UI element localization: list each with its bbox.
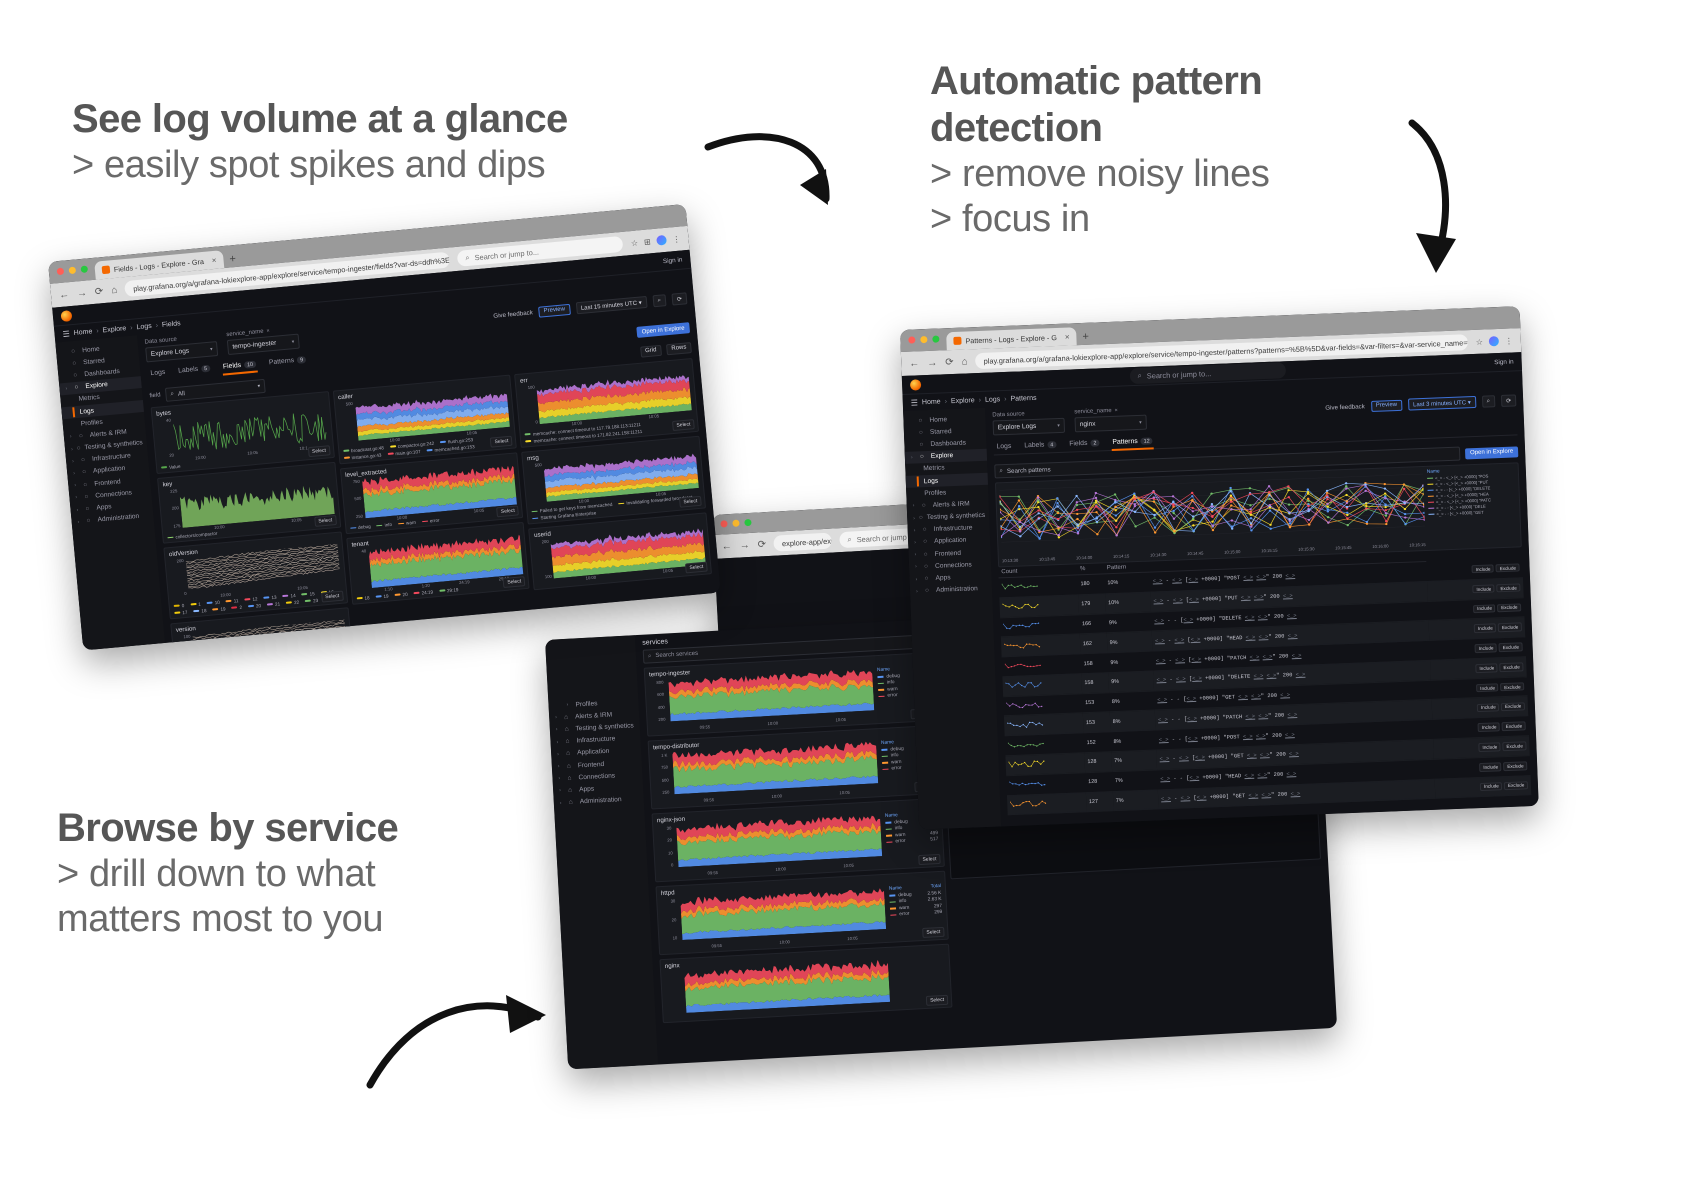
rows-view-button[interactable]: Rows [666, 342, 692, 355]
legend-item[interactable]: 14 [282, 592, 296, 598]
breadcrumb-fields[interactable]: Fields [162, 320, 181, 329]
chevron-right-icon: › [75, 494, 81, 500]
field-panel[interactable]: bytes 4020 10:0010:0510:1 ValueSelect [151, 391, 335, 473]
zoom-out-icon[interactable]: ⌕ [1482, 395, 1496, 408]
legend-swatch [174, 612, 180, 614]
exclude-button[interactable]: Exclude [1497, 603, 1521, 612]
y-tick: 500 [339, 401, 353, 407]
compass-icon: ○ [920, 453, 927, 460]
patterns-table[interactable]: Count%Pattern 18010%<_> - <_> [<_> +0000… [998, 547, 1531, 815]
y-tick: 200 [651, 717, 665, 723]
sidebar-item-label: Home [82, 345, 100, 354]
select-button[interactable]: Select [685, 561, 708, 573]
legend-label: debug [898, 892, 912, 898]
legend-swatch [1428, 489, 1434, 491]
x-tick: 10:16:00 [1372, 543, 1388, 549]
legend-label: flush.go:253 [448, 437, 473, 444]
include-button[interactable]: Include [1478, 723, 1500, 732]
menu-icon[interactable]: ⋮ [1505, 336, 1513, 345]
legend-total: 297 [934, 903, 942, 908]
legend-item[interactable]: 22 [286, 599, 300, 605]
tab-patterns[interactable]: Patterns9 [267, 353, 307, 371]
sidebar-item-label: Administration [97, 513, 139, 524]
select-button[interactable]: Select [497, 505, 520, 517]
legend-name-header: Name [881, 740, 894, 746]
legend-item[interactable]: error [422, 518, 440, 525]
search-icon: ⌕ [1137, 371, 1142, 381]
chevron-down-icon: ▾ [257, 383, 260, 389]
legend-swatch [174, 605, 180, 607]
legend-label: warn [899, 905, 910, 911]
legend-swatch [532, 510, 538, 512]
row-percent: 9% [1107, 651, 1153, 673]
chrome-toolbar[interactable]: ☆ ⋮ [1476, 335, 1514, 346]
x-tick: 10:14:00 [1076, 555, 1092, 561]
legend-swatch [244, 598, 250, 600]
legend-swatch [890, 908, 896, 910]
close-icon[interactable]: × [1065, 332, 1070, 341]
x-tick: 10:05 [291, 517, 302, 523]
row-count: 180 [1077, 574, 1105, 595]
forward-icon[interactable]: → [927, 357, 937, 368]
include-button[interactable]: Include [1480, 762, 1502, 771]
tab-patterns[interactable]: Patterns12 [1111, 434, 1154, 450]
preview-badge[interactable]: Preview [1371, 399, 1403, 411]
include-button[interactable]: Include [1475, 644, 1497, 653]
row-percent: 7% [1112, 790, 1158, 812]
legend-label: 1 [198, 601, 201, 606]
traffic-lights[interactable] [57, 265, 89, 275]
menu-icon[interactable]: ☰ [62, 329, 70, 339]
legend-label: 20 [256, 603, 262, 608]
sidebar-item-label: Frontend [934, 549, 961, 557]
tab-title: Patterns - Logs - Explore - G [965, 332, 1057, 345]
legend-label: 11 [233, 598, 238, 603]
y-tick: 250 [655, 789, 669, 795]
field-panel[interactable]: tenant 40 1:101:2024:1929:19 18192024:19… [346, 522, 530, 604]
grafana-logo-icon [910, 379, 921, 390]
legend-swatch [879, 695, 885, 697]
sidebar-item-label: Infrastructure [92, 453, 131, 463]
traffic-lights[interactable] [720, 519, 751, 528]
include-button[interactable]: Include [1479, 742, 1501, 751]
select-button[interactable]: Select [926, 995, 948, 1006]
legend-swatch [890, 914, 896, 916]
legend-label: 17 [182, 609, 188, 614]
legend-item[interactable]: 2 [231, 604, 242, 610]
grid-view-button[interactable]: Grid [640, 344, 662, 357]
new-tab-icon[interactable]: + [1082, 331, 1089, 343]
legend-item[interactable]: warn [398, 520, 416, 527]
service-name-filter[interactable]: service_name× tempo-ingester▾ [226, 326, 300, 355]
chevron-right-icon: › [77, 519, 83, 525]
gear-icon: ⌂ [569, 799, 576, 806]
back-icon[interactable]: ← [59, 289, 70, 301]
legend-item[interactable]: 15 [301, 591, 315, 597]
sidebar-item-label: Dashboards [84, 368, 120, 378]
select-button[interactable]: Select [672, 419, 695, 431]
legend-item[interactable]: 24:19 [413, 589, 433, 596]
service-legend[interactable] [893, 957, 945, 960]
exclude-button[interactable]: Exclude [1499, 643, 1523, 652]
chevron-down-icon: ▾ [1057, 422, 1060, 428]
include-button[interactable]: Include [1477, 703, 1499, 712]
arrow-to-services-window [360, 985, 560, 1095]
legend-label: info [895, 826, 903, 831]
chevron-right-icon: › [915, 564, 920, 570]
plug-icon: ○ [84, 493, 92, 501]
legend-swatch [882, 768, 888, 770]
heartbeat-icon: ○ [923, 526, 930, 533]
legend-item[interactable]: 18 [193, 608, 207, 614]
legend-label: 18 [364, 595, 370, 600]
x-tick: 10:00 [396, 514, 407, 520]
menu-icon[interactable]: ⋮ [672, 234, 681, 244]
breadcrumb-home[interactable]: Home [922, 398, 941, 406]
sidebar-item-label: Starred [83, 357, 105, 366]
x-tick: 10:00 [214, 524, 225, 530]
legend-swatch [350, 527, 356, 529]
legend-item[interactable]: debug [350, 524, 371, 531]
legend-label: main.go:107 [395, 449, 421, 456]
tab-label: Patterns [269, 357, 295, 366]
legend-swatch [1427, 483, 1433, 485]
x-tick: 09:55 [711, 943, 722, 949]
legend-item[interactable]: 20 [394, 591, 408, 597]
datasource-picker[interactable]: Data source Explore Logs▾ [144, 333, 218, 362]
close-icon[interactable]: × [266, 328, 270, 334]
select-button[interactable]: Select [314, 515, 337, 527]
tab-logs[interactable]: Logs [149, 366, 167, 381]
legend-item[interactable]: main.go:107 [387, 449, 421, 457]
legend-label: Value [169, 463, 181, 469]
refresh-icon[interactable]: ⟳ [1501, 394, 1516, 407]
globe-icon: ○ [83, 481, 91, 489]
legend-item[interactable]: 17 [174, 609, 188, 615]
field-panel[interactable]: key 225200175 10:0010:05 collectors/comp… [157, 461, 341, 543]
exclude-button[interactable]: Exclude [1502, 722, 1526, 731]
avatar[interactable] [656, 235, 667, 246]
signin-link[interactable]: Sign in [663, 256, 683, 265]
legend-swatch [248, 605, 254, 607]
sidebar-item-label: Explore [931, 452, 954, 460]
legend-swatch [267, 603, 273, 605]
exclude-button[interactable]: Exclude [1498, 623, 1522, 632]
sidebar-item-label: Metrics [78, 394, 100, 403]
grafana-favicon [102, 265, 111, 274]
open-in-explore-button[interactable]: Open in Explore [1465, 446, 1518, 459]
legend-swatch [886, 835, 892, 837]
legend-swatch [885, 822, 891, 824]
legend-swatch [344, 457, 350, 459]
y-tick: 100 [520, 384, 534, 390]
y-tick: 20 [658, 838, 672, 844]
field-panel[interactable]: oldVersion 2000 10:0010:05 0110111213141… [163, 532, 347, 619]
tab-labels[interactable]: Labels5 [177, 362, 212, 379]
home-icon[interactable]: ⌂ [111, 284, 118, 296]
search-icon: ⌕ [465, 253, 470, 263]
x-tick: 10:05 [297, 585, 308, 591]
exclude-button[interactable]: Exclude [1500, 682, 1524, 691]
zoom-out-icon[interactable]: ⌕ [652, 294, 666, 307]
url-text[interactable]: explore-app/explore?patterns=%5B%5D&var-… [774, 533, 832, 552]
back-icon[interactable]: ← [909, 358, 919, 369]
field-panel[interactable]: level_extracted 750500250 10:0010:05 deb… [340, 452, 524, 534]
x-tick: 10:00 [389, 437, 400, 443]
legend-label: 19 [383, 593, 389, 598]
service-legend[interactable]: NameTotaldebug2.56 Kinfo2.63 Kwarn297err… [889, 884, 943, 919]
sidebar-item-label: Connections [935, 561, 972, 569]
home-icon: ○ [918, 417, 925, 424]
legend-swatch [394, 594, 400, 596]
service-panel[interactable]: httpd 302010 09:5510:0010:05 NameTotalde… [655, 871, 948, 956]
legend-item[interactable]: 11 [226, 598, 239, 604]
chrome-toolbar[interactable]: ☆ ⊞ ⋮ [630, 234, 681, 248]
legend-item[interactable]: 12 [244, 596, 258, 602]
field-panel[interactable]: msg 500 10:0010:05 Failed to get keys fr… [521, 435, 706, 524]
select-button[interactable]: Select [490, 435, 513, 447]
tab-count-badge: 2 [1090, 439, 1099, 446]
panel-column: caller 500 10:0010:05 broadcast.go:48com… [332, 375, 535, 651]
give-feedback-link[interactable]: Give feedback [493, 309, 533, 320]
exclude-button[interactable]: Exclude [1500, 662, 1524, 671]
time-range-picker[interactable]: Last 15 minutes UTC ▾ [575, 296, 647, 314]
arrow-to-patterns-window [1390, 115, 1520, 305]
sidebar-item-label: Home [929, 416, 947, 424]
datasource-picker[interactable]: Data source Explore Logs▾ [992, 410, 1065, 436]
exclude-button[interactable]: Exclude [1497, 583, 1521, 592]
new-tab-icon[interactable]: + [229, 253, 236, 266]
sidebar-item-label: Apps [96, 503, 112, 511]
back-icon[interactable]: ← [721, 540, 732, 552]
row-percent: 8% [1109, 710, 1155, 732]
x-tick: 10:00 [195, 455, 206, 461]
sidebar-item-label: Infrastructure [934, 525, 973, 533]
exclude-button[interactable]: Exclude [1503, 761, 1527, 770]
legend-item[interactable]: 21 [267, 601, 281, 607]
close-icon[interactable]: × [211, 255, 216, 264]
include-button[interactable]: Include [1473, 604, 1495, 613]
star-icon[interactable]: ☆ [630, 238, 638, 248]
window-patterns[interactable]: Patterns - Logs - Explore - G × + ← → ⟳ … [900, 306, 1539, 829]
legend-item[interactable]: 10 [206, 599, 220, 605]
bell-icon: ○ [79, 432, 87, 440]
x-tick: 10:15:45 [1335, 545, 1351, 551]
service-panel[interactable]: nginx Select [659, 944, 952, 1024]
callout-pattern-detection: Automatic pattern detection > remove noi… [930, 58, 1360, 242]
include-button[interactable]: Include [1476, 663, 1498, 672]
x-tick: 10:00 [585, 575, 596, 581]
forward-icon[interactable]: → [76, 287, 87, 299]
exclude-button[interactable]: Exclude [1504, 781, 1528, 790]
open-in-explore-button[interactable]: Open in Explore [636, 322, 690, 338]
service-panel[interactable]: tempo-ingester 800600400200 09:5510:0010… [644, 652, 937, 737]
legend-swatch [286, 601, 292, 603]
legend-item[interactable]: 20 [248, 603, 262, 609]
row-actions[interactable]: IncludeExclude [1435, 775, 1532, 798]
legend-swatch [533, 517, 539, 519]
traffic-lights[interactable] [908, 335, 939, 343]
row-count: 162 [1080, 633, 1108, 654]
include-button[interactable]: Include [1473, 584, 1495, 593]
y-tick: 10 [663, 935, 677, 941]
menu-icon[interactable]: ☰ [911, 398, 919, 407]
avatar[interactable] [1489, 336, 1499, 346]
tab-logs[interactable]: Logs [995, 440, 1012, 455]
services-list[interactable]: tempo-ingester 800600400200 09:5510:0010… [644, 652, 953, 1023]
legend-label: 22 [294, 599, 300, 604]
legend-label: 24:19 [421, 589, 433, 595]
legend-item[interactable]: 0 [173, 603, 184, 609]
tab-labels[interactable]: Labels4 [1023, 438, 1058, 453]
give-feedback-link[interactable]: Give feedback [1325, 403, 1365, 412]
exclude-button[interactable]: Exclude [1496, 563, 1520, 572]
legend-item[interactable]: 13 [263, 594, 277, 600]
preview-badge[interactable]: Preview [538, 303, 570, 317]
legend-item[interactable]: 29:19 [439, 587, 459, 594]
breadcrumb-patterns[interactable]: Patterns [1010, 394, 1036, 402]
select-button[interactable]: Select [679, 496, 702, 508]
flask-icon: ○ [919, 514, 923, 521]
legend-item[interactable]: 1 [190, 601, 201, 607]
legend-swatch [356, 597, 362, 599]
x-tick: 10:16:15 [1409, 542, 1425, 548]
chevron-right-icon: › [915, 552, 920, 558]
select-button[interactable]: Select [308, 445, 331, 457]
legend-swatch [1428, 501, 1434, 503]
close-icon[interactable]: × [1115, 408, 1118, 414]
tab-fields[interactable]: Fields2 [1068, 436, 1101, 451]
search-icon: ⌕ [170, 390, 174, 398]
sidebar-item-administration[interactable]: ›○Administration [910, 582, 992, 597]
exclude-button[interactable]: Exclude [1503, 741, 1527, 750]
extensions-icon[interactable]: ⊞ [644, 237, 651, 247]
row-count: 158 [1080, 653, 1108, 674]
legend-label: 29:19 [447, 587, 459, 593]
patterns-sidebar[interactable]: ○Home○Starred○Dashboards›○ExploreMetrics… [903, 408, 1001, 830]
signin-link[interactable]: Sign in [1494, 358, 1514, 366]
y-tick: 200 [165, 505, 179, 511]
include-button[interactable]: Include [1474, 624, 1496, 633]
legend-label: debug [358, 524, 371, 530]
legend-item[interactable]: error517 [886, 837, 938, 845]
apps-icon: ○ [923, 538, 930, 545]
sidebar-item-label: Profiles [924, 489, 946, 497]
legend-item[interactable]: 23 [305, 597, 319, 603]
grid-icon: ○ [924, 575, 931, 582]
service-name-filter[interactable]: service_name× nginx▾ [1074, 407, 1147, 433]
row-percent: 9% [1108, 671, 1154, 693]
legend-swatch [886, 841, 892, 843]
legend-label: info [384, 522, 392, 528]
legend-item[interactable]: 18 [356, 595, 370, 601]
chevron-right-icon: › [71, 446, 73, 452]
row-percent: 8% [1109, 691, 1155, 713]
exclude-button[interactable]: Exclude [1501, 702, 1525, 711]
legend-label: 23 [313, 597, 319, 602]
legend-item[interactable]: 19 [375, 593, 389, 599]
reload-icon[interactable]: ⟳ [945, 356, 954, 367]
legend-item[interactable]: Value [161, 463, 181, 470]
include-button[interactable]: Include [1476, 683, 1498, 692]
service-panel[interactable]: nginx-json 3020100 09:5510:0010:05 NameT… [652, 798, 945, 883]
row-percent: 10% [1105, 592, 1151, 614]
include-button[interactable]: Include [1480, 782, 1502, 791]
chevron-right-icon: › [915, 576, 920, 582]
y-tick: 10 [659, 850, 673, 856]
x-tick: 10:05 [835, 717, 846, 723]
callout-subline-2: matters most to you [57, 897, 398, 942]
legend-item[interactable]: info [376, 522, 392, 528]
star-icon[interactable]: ☆ [1476, 337, 1484, 346]
breadcrumb-explore[interactable]: Explore [102, 325, 126, 334]
arrow-to-fields-window [700, 125, 860, 285]
home-icon: ○ [71, 347, 79, 355]
legend-swatch [1428, 513, 1434, 515]
window-fields[interactable]: Fields - Logs - Explore - Gra × + ← → ⟳ … [48, 204, 721, 650]
select-button[interactable]: Select [503, 576, 526, 588]
panel-column: err 1000 10:0010:05 memcache: connect ti… [514, 358, 717, 650]
reload-icon[interactable]: ⟳ [94, 286, 103, 298]
legend-name-header: Name [877, 667, 890, 673]
home-icon[interactable]: ⌂ [961, 356, 967, 367]
row-count: 128 [1084, 752, 1112, 773]
reload-icon[interactable]: ⟳ [757, 539, 766, 550]
breadcrumb-logs[interactable]: Logs [985, 396, 1000, 404]
field-panel[interactable]: caller 500 10:0010:05 broadcast.go:48com… [332, 375, 517, 464]
legend-label: error [899, 912, 909, 918]
patterns-chart-legend[interactable]: Name <_> - <_> [<_> +0000] "POS<_> - <_>… [1427, 467, 1518, 547]
grid-icon: ○ [85, 505, 93, 513]
include-button[interactable]: Include [1472, 564, 1494, 573]
select-button[interactable]: Select [918, 854, 940, 865]
legend-item[interactable]: error299 [890, 910, 942, 918]
breadcrumb-logs[interactable]: Logs [136, 322, 152, 330]
y-tick: 750 [654, 765, 668, 771]
tab-count-badge: 5 [201, 365, 211, 373]
chevron-right-icon: › [76, 507, 82, 513]
field-panel[interactable]: err 1000 10:0010:05 memcache: connect ti… [514, 358, 699, 447]
forward-icon[interactable]: → [739, 540, 750, 552]
field-panel[interactable]: userid 200100 10:0010:05 Select [528, 512, 712, 589]
heartbeat-icon: ⌂ [565, 738, 572, 745]
search-icon: ⌕ [847, 534, 852, 544]
y-tick: 20 [662, 917, 676, 923]
breadcrumb-home[interactable]: Home [73, 328, 92, 337]
time-range-picker[interactable]: Last 3 minutes UTC ▾ [1408, 396, 1476, 411]
service-panel[interactable]: tempo-distributor 1 K750500250 09:5510:0… [648, 725, 941, 810]
refresh-icon[interactable]: ⟳ [671, 292, 687, 305]
y-tick: 750 [346, 478, 360, 484]
gear-icon: ○ [86, 517, 94, 525]
select-button[interactable]: Select [321, 590, 344, 602]
tab-label: Logs [996, 443, 1011, 451]
legend-swatch [212, 608, 218, 610]
sidebar-item-label: Apps [935, 574, 950, 582]
chevron-right-icon: › [73, 470, 79, 476]
legend-item[interactable]: 19 [212, 606, 226, 612]
legend-label: <_> - - [<_> +0000] "GET [1436, 510, 1483, 517]
breadcrumb-explore[interactable]: Explore [951, 397, 975, 405]
x-tick: 10:13:45 [1039, 556, 1055, 562]
callout-subline-2: > focus in [930, 197, 1360, 242]
x-tick: 10:05 [466, 430, 477, 436]
tab-fields[interactable]: Fields10 [221, 358, 257, 375]
x-tick: 10:15:00 [1224, 549, 1240, 555]
select-button[interactable]: Select [922, 927, 944, 938]
legend-item[interactable]: instance.go:43 [343, 452, 381, 460]
legend-swatch [886, 828, 892, 830]
